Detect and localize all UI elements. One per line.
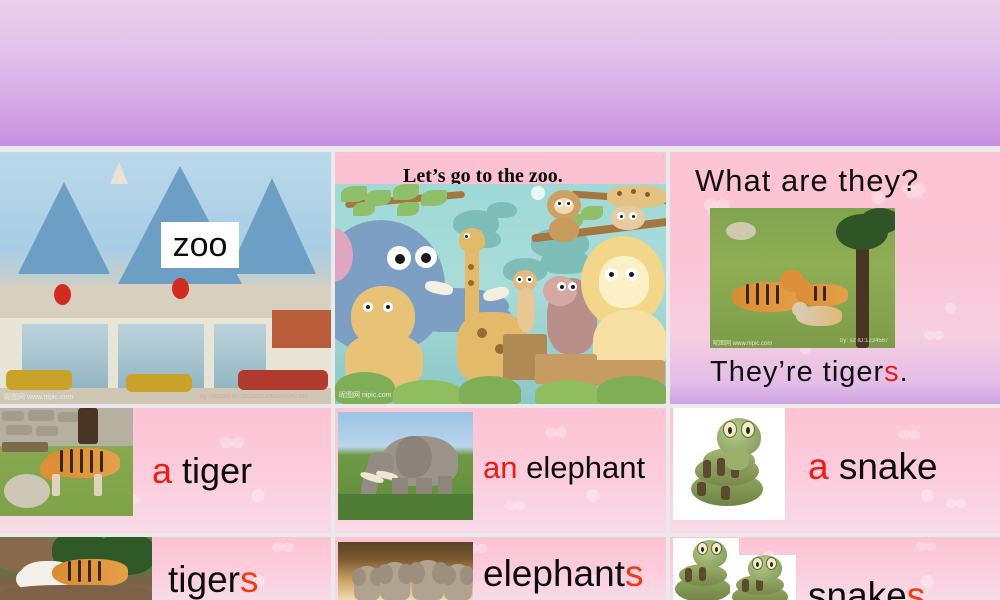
noun-stem-tiger: tiger bbox=[168, 559, 240, 600]
butterfly-watermark-icon bbox=[916, 541, 936, 555]
slide-canvas: 昵图网 www.nipic.com By:xm2240 No:201302230… bbox=[0, 0, 1000, 600]
noun-snake: snake bbox=[839, 446, 938, 487]
elephant-photo bbox=[338, 412, 473, 520]
cartoon-watermark: 昵图网 nipic.com bbox=[339, 390, 392, 400]
cartoon-zoo-panel: Let’s go to the zoo. bbox=[335, 152, 666, 404]
tigers-on-grass-photo: 昵图网 www.nipic.com by: sz ID:1234567 bbox=[710, 208, 895, 348]
butterfly-watermark-icon bbox=[545, 426, 567, 442]
question-text: What are they? bbox=[695, 163, 919, 199]
article-a: a bbox=[152, 450, 172, 491]
white-and-orange-tiger-photo bbox=[0, 537, 152, 600]
butterfly-watermark-icon bbox=[505, 500, 525, 514]
plural-suffix-s: s bbox=[625, 553, 644, 594]
noun-stem-snake: snake bbox=[808, 575, 907, 600]
butterfly-watermark-icon bbox=[898, 428, 920, 444]
noun-elephant: elephant bbox=[526, 450, 645, 485]
vocab-label-snakes: snakes bbox=[808, 575, 925, 600]
vocab-elephants: elephants bbox=[335, 537, 666, 600]
vocab-label-an-elephant: an elephant bbox=[483, 450, 645, 486]
zoo-photo-watermark-id: By:xm2240 No:20130223093348797395 bbox=[200, 394, 308, 400]
tiger-walking-photo bbox=[0, 408, 133, 516]
vocab-an-elephant: an elephant bbox=[335, 408, 666, 533]
answer-stem: They’re tiger bbox=[710, 356, 884, 388]
answer-period: . bbox=[900, 356, 909, 388]
vocab-label-tigers: tigers bbox=[168, 559, 258, 600]
noun-tiger: tiger bbox=[182, 450, 252, 491]
vocab-tigers: tigers bbox=[0, 537, 331, 600]
butterfly-watermark-icon bbox=[946, 498, 966, 512]
article-an: an bbox=[483, 450, 517, 485]
vocab-label-a-snake: a snake bbox=[808, 446, 938, 488]
vocab-label-a-tiger: a tiger bbox=[152, 450, 252, 492]
butterfly-watermark-icon bbox=[924, 330, 944, 344]
vocab-snakes: snakes bbox=[670, 537, 1000, 600]
snake-image-card bbox=[673, 408, 785, 520]
zoo-entrance-photo: 昵图网 www.nipic.com By:xm2240 No:201302230… bbox=[0, 152, 331, 404]
elephant-herd-photo bbox=[338, 542, 473, 600]
title-banner bbox=[0, 0, 1000, 146]
vocab-a-snake: a snake bbox=[670, 408, 1000, 533]
question-panel: What are they? 昵图网 www.nipic.com by: sz … bbox=[670, 152, 1000, 404]
zoo-word-label: zoo bbox=[161, 222, 239, 268]
cartoon-zoo-image: 昵图网 nipic.com bbox=[335, 184, 666, 404]
vocab-label-elephants: elephants bbox=[483, 553, 643, 595]
butterfly-watermark-icon bbox=[272, 541, 294, 557]
plural-suffix-s: s bbox=[907, 575, 926, 600]
plural-suffix-s: s bbox=[240, 559, 259, 600]
article-a: a bbox=[808, 446, 829, 487]
snake-image-card-right bbox=[730, 555, 796, 600]
vocab-a-tiger: a tiger bbox=[0, 408, 331, 533]
zoo-photo-watermark: 昵图网 www.nipic.com bbox=[4, 392, 73, 402]
answer-text: They’re tigers. bbox=[710, 356, 909, 389]
answer-plural-suffix: s bbox=[884, 356, 900, 388]
noun-stem-elephant: elephant bbox=[483, 553, 625, 594]
